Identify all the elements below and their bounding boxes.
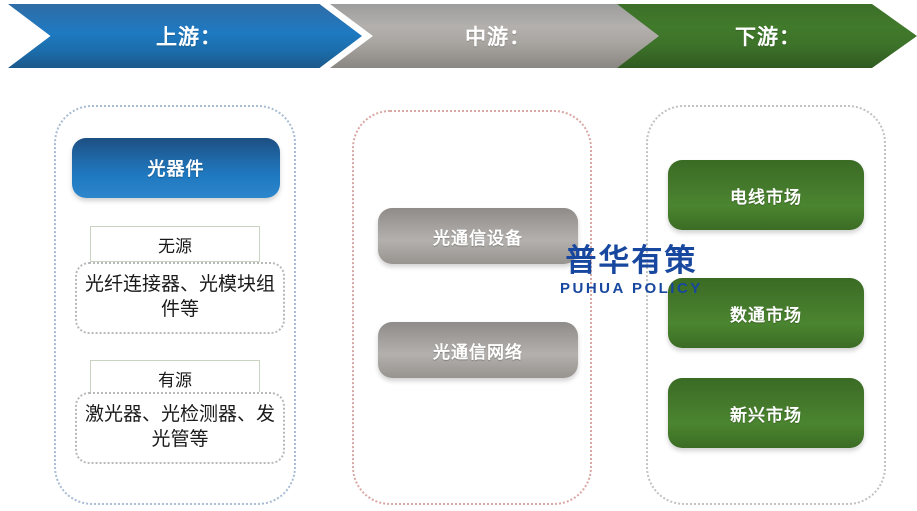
downstream-box-emerging-market-label: 新兴市场 [730, 401, 802, 426]
downstream-box-wire-market: 电线市场 [668, 160, 864, 230]
upstream-main-box: 光器件 [72, 138, 280, 198]
stage-header-band: 上游： 中游： 下游： [0, 0, 917, 70]
downstream-box-datacom-market-label: 数通市场 [730, 301, 802, 326]
upstream-active-detail: 激光器、光检测器、发光管等 [75, 392, 285, 464]
upstream-active-detail-text: 激光器、光检测器、发光管等 [85, 403, 275, 452]
stage-arrow-downstream-label: 下游： [735, 21, 801, 51]
upstream-passive-detail: 光纤连接器、光模块组件等 [75, 262, 285, 334]
downstream-box-emerging-market: 新兴市场 [668, 378, 864, 448]
upstream-passive-label: 无源 [90, 226, 260, 262]
upstream-passive-label-text: 无源 [158, 232, 192, 257]
midstream-box-optical-equipment: 光通信设备 [378, 208, 578, 264]
stage-arrow-downstream: 下游： [617, 4, 917, 68]
stage-arrow-midstream-label: 中游： [465, 21, 531, 51]
midstream-box-optical-equipment-label: 光通信设备 [433, 224, 523, 249]
upstream-active-label: 有源 [90, 360, 260, 396]
midstream-column [352, 110, 592, 505]
stage-arrow-upstream: 上游： [8, 4, 362, 68]
upstream-passive-detail-text: 光纤连接器、光模块组件等 [85, 273, 275, 322]
downstream-box-datacom-market: 数通市场 [668, 278, 864, 348]
upstream-main-box-label: 光器件 [148, 155, 205, 181]
stage-arrow-upstream-label: 上游： [156, 21, 222, 51]
stage-arrow-midstream: 中游： [330, 4, 660, 68]
midstream-box-optical-network-label: 光通信网络 [433, 338, 523, 363]
upstream-active-label-text: 有源 [158, 366, 192, 391]
midstream-box-optical-network: 光通信网络 [378, 322, 578, 378]
downstream-box-wire-market-label: 电线市场 [730, 183, 802, 208]
